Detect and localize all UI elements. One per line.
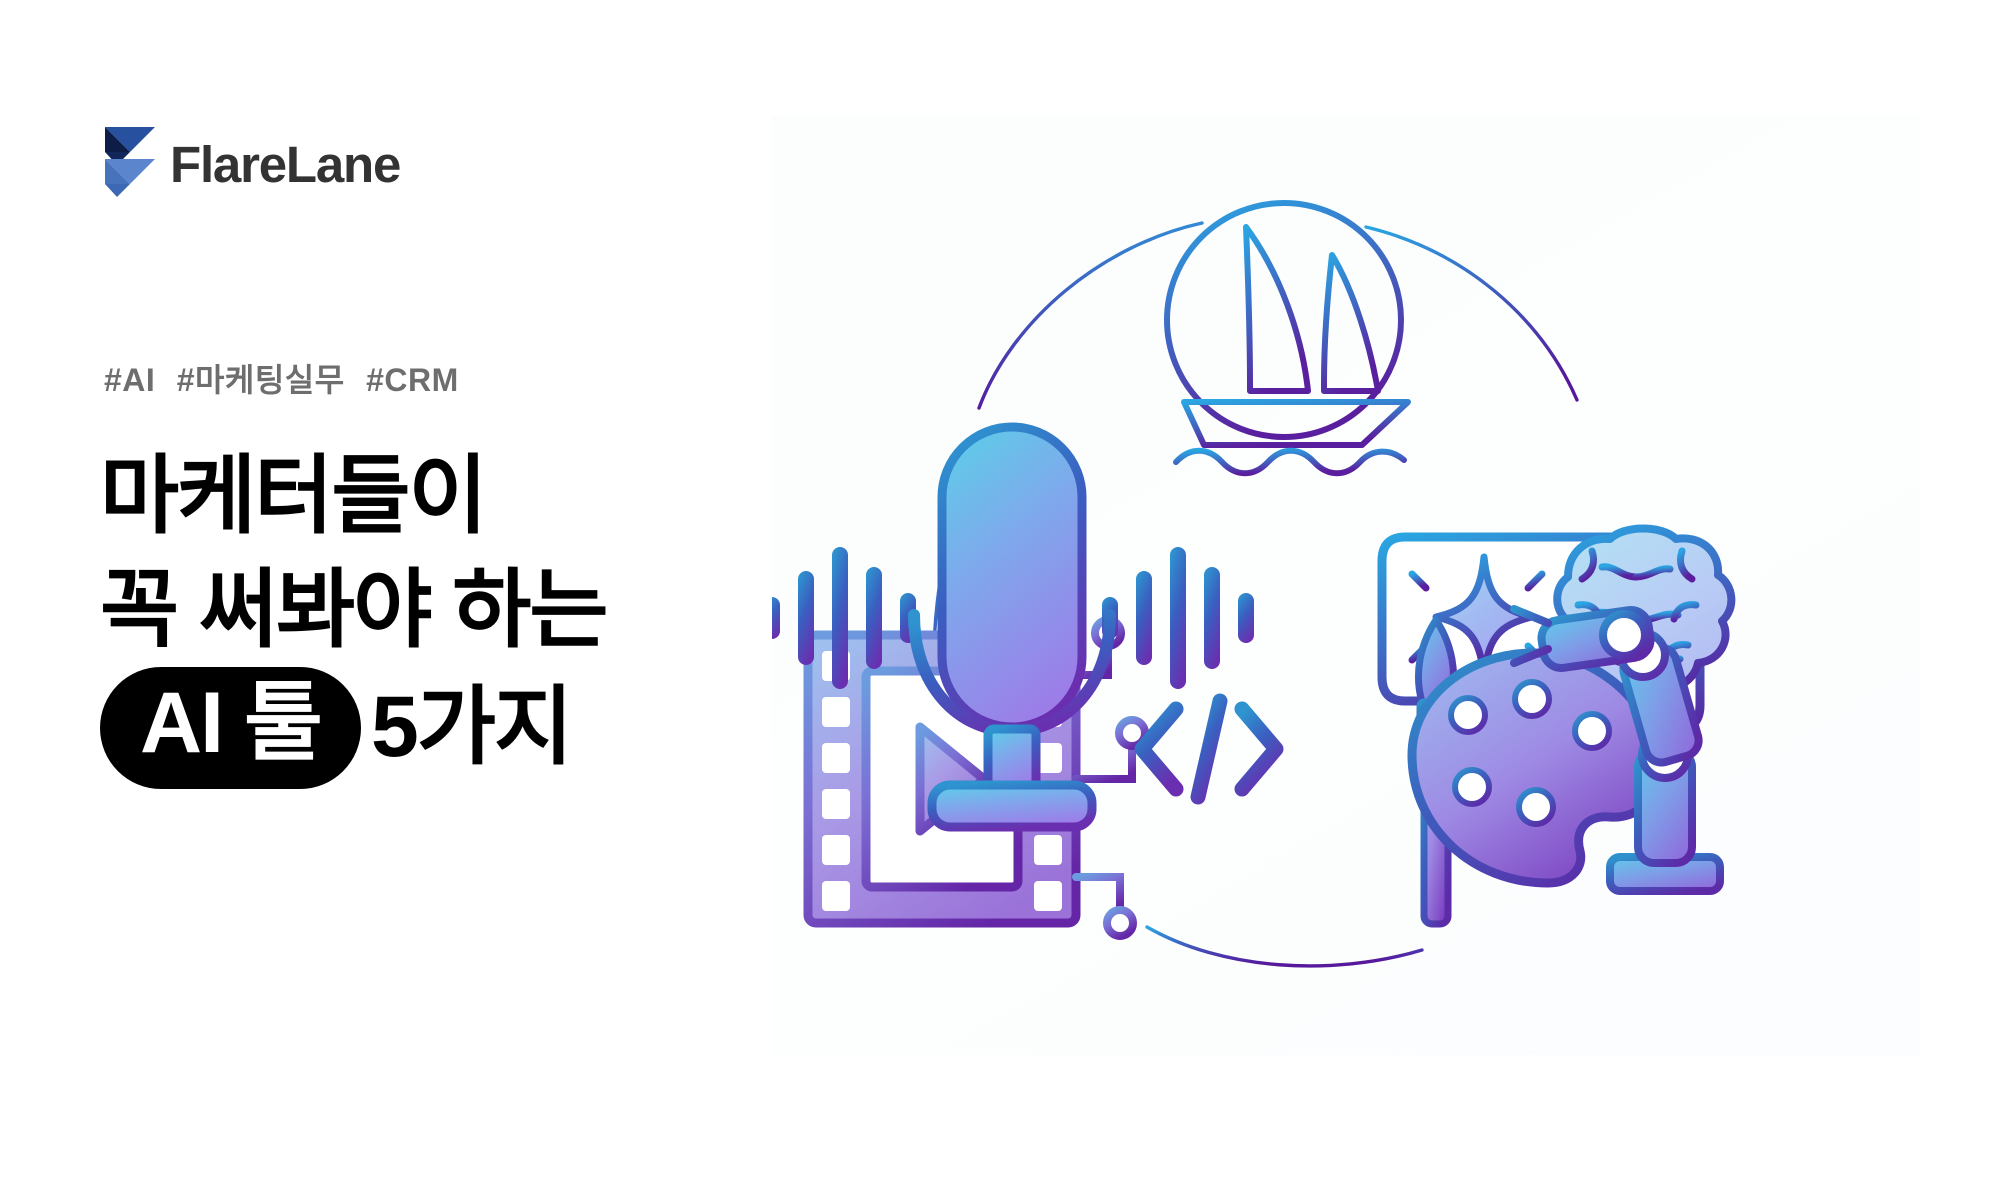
sailboat-in-circle-icon — [1167, 203, 1408, 473]
ai-tool-pill-badge: AI 툴 — [100, 667, 361, 788]
headline-line-1: 마케터들이 — [100, 440, 760, 554]
hashtag-list: #AI #마케팅실무 #CRM — [104, 355, 459, 401]
banner-root: FlareLane #AI #마케팅실무 #CRM 마케터들이 꼭 써봐야 하는… — [0, 0, 2000, 1180]
text-column: FlareLane #AI #마케팅실무 #CRM 마케터들이 꼭 써봐야 하는… — [0, 0, 772, 1180]
headline-block: 마케터들이 꼭 써봐야 하는 AI 툴 5가지 — [100, 440, 760, 789]
headline-line-3: AI 툴 5가지 — [100, 667, 760, 788]
brand-wordmark: FlareLane — [170, 139, 400, 190]
flarelane-logo-mark-icon — [104, 126, 156, 202]
headline-count-suffix: 5가지 — [361, 671, 571, 785]
brand-logo-lockup[interactable]: FlareLane — [104, 126, 400, 202]
headline-line-2: 꼭 써봐야 하는 — [100, 554, 760, 668]
illustration-panel — [772, 115, 1920, 1055]
hashtag-item[interactable]: #마케팅실무 — [177, 362, 345, 398]
ai-tools-circle-illustration — [772, 115, 1920, 1055]
hashtag-item[interactable]: #CRM — [366, 362, 459, 398]
hashtag-item[interactable]: #AI — [104, 362, 155, 398]
